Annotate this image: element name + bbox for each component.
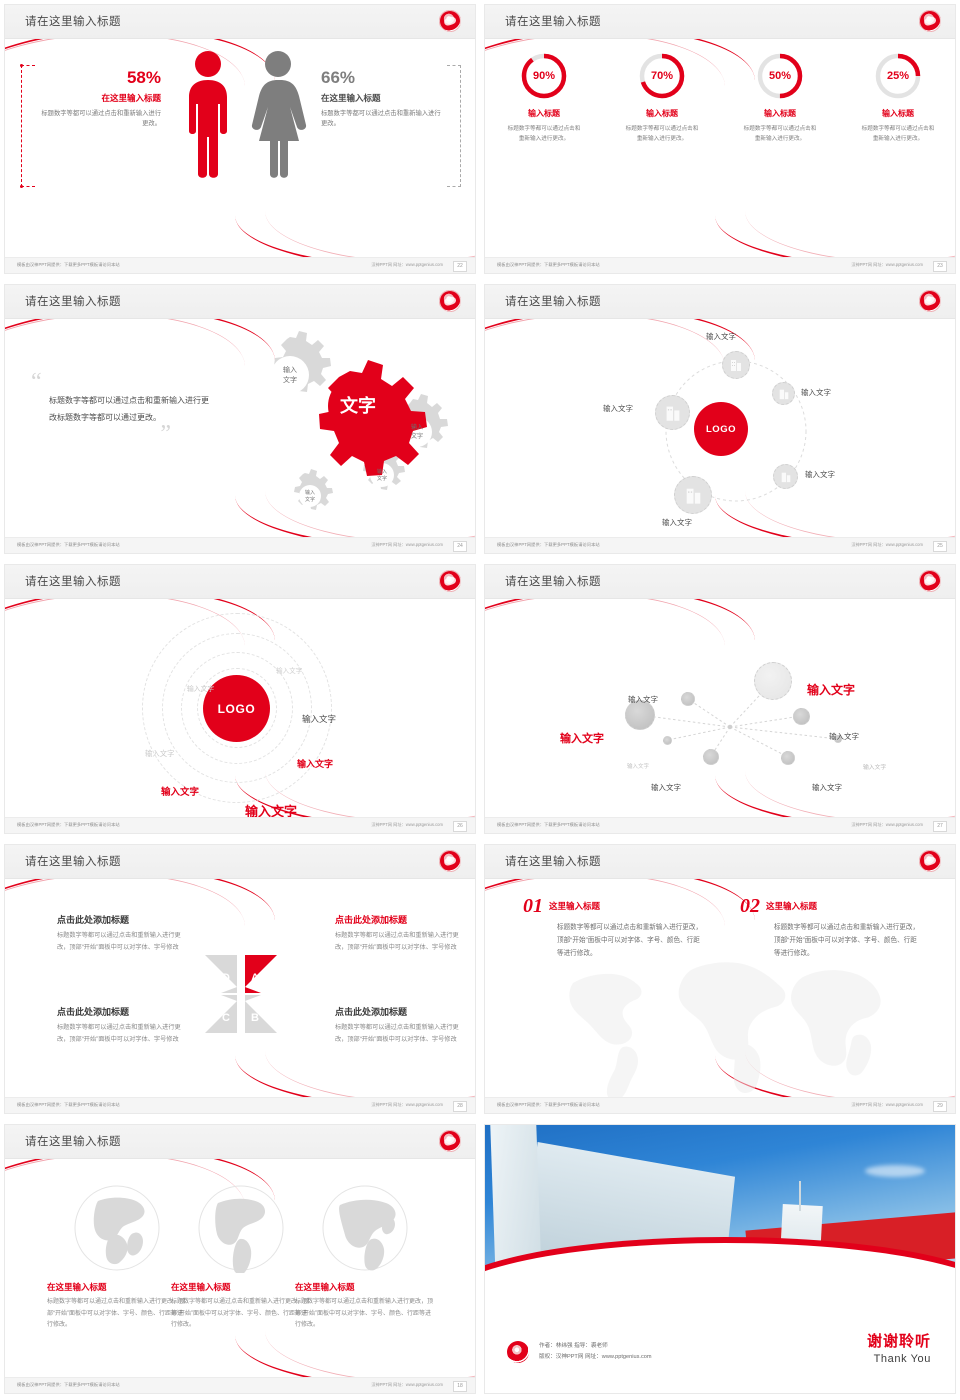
slide-canvas: 请在这里输入标题 xyxy=(484,564,956,834)
slide-4-hub-circle[interactable]: 请在这里输入标题 LOGO xyxy=(480,280,960,560)
globe-column-3: 在这里输入标题 标题数字等都可以通过点击和重新输入进行更改，顶部“开始”面板中可… xyxy=(295,1183,435,1332)
school-seal-icon xyxy=(439,10,461,32)
antenna-mast xyxy=(799,1181,801,1211)
constellation-label-7: 输入文字 xyxy=(651,782,681,793)
page-number: 29 xyxy=(933,1101,947,1112)
globe-desc-3: 标题数字等都可以通过点击和重新输入进行更改，顶部“开始”面板中可以对字体、字号、… xyxy=(295,1297,435,1332)
footer-left-text: 模板由汉神PPT网提供：下载更多PPT模板请访问本站 xyxy=(17,262,120,268)
donut-value: 25% xyxy=(873,51,923,101)
svg-text:输入: 输入 xyxy=(411,423,423,431)
school-seal-icon xyxy=(919,850,941,872)
world-map-watermark xyxy=(545,949,925,1099)
page-title: 请在这里输入标题 xyxy=(25,1133,121,1149)
slide-stage: LOGO 输入文字 xyxy=(485,319,956,539)
ring-label-3: 输入文字 xyxy=(145,748,175,759)
footer-left-text: 模板由汉神PPT网提供：下载更多PPT模板请访问本站 xyxy=(497,822,600,828)
globe-column-2: 在这里输入标题 标题数字等都可以通过点击和重新输入进行更改，顶部“开始”面板中可… xyxy=(171,1183,311,1332)
hub-label-bottom: 输入文字 xyxy=(662,517,692,528)
slide-canvas: 请在这里输入标题 在这里输入标题 标题数字等都可以通过点击和重新输入进行更改，顶… xyxy=(4,1124,476,1394)
item-01-block: 01 这里输入标题 标题数字等都可以通过点击和重新输入进行更改，顶部“开始”面板… xyxy=(523,895,703,961)
globe-title-3: 在这里输入标题 xyxy=(295,1281,435,1293)
hub-node-top[interactable] xyxy=(722,351,750,379)
slide-stage: LOGO 输入文字 输入文字 输入文字 输入文字 输入文字 输入文字 输入文字 xyxy=(5,599,476,819)
quote-open-icon: “ xyxy=(31,375,211,389)
school-seal-icon xyxy=(439,570,461,592)
school-seal-icon xyxy=(919,570,941,592)
footer-right-text: 汉神PPT网 网址：www.pptgenius.com xyxy=(851,1102,923,1108)
quadrant-title: 点击此处添加标题 xyxy=(335,1005,471,1018)
slide-canvas: 请在这里输入标题 “ 标题数字等都可以通过点击和重新输入进行更改标题数字等都可以… xyxy=(4,284,476,554)
item-number-02: 02 xyxy=(740,895,760,918)
svg-text:输入: 输入 xyxy=(305,489,315,496)
hub-diagram: LOGO 输入文字 xyxy=(485,319,956,539)
donut-chart-25: 25% xyxy=(873,51,923,101)
footer-left-text: 模板由汉神PPT网提供：下载更多PPT模板请访问本站 xyxy=(17,1382,120,1388)
thanks-chinese: 谢谢聆听 xyxy=(867,1330,931,1351)
constellation-label-5: 输入文字 xyxy=(627,762,649,770)
quote-block: “ 标题数字等都可以通过点击和重新输入进行更改标题数字等都可以通过更改。 ” xyxy=(31,375,211,441)
node-bottom-left[interactable] xyxy=(703,749,719,765)
page-number: 26 xyxy=(453,821,467,832)
page-number: 22 xyxy=(453,261,467,272)
page-title: 请在这里输入标题 xyxy=(25,293,121,309)
globe-title-2: 在这里输入标题 xyxy=(171,1281,311,1293)
slide-9-globes-three-col[interactable]: 请在这里输入标题 在这里输入标题 标题数字等都可以通过点击和重新输入进行更改，顶… xyxy=(0,1120,480,1400)
donut-value: 70% xyxy=(637,51,687,101)
slide-header: 请在这里输入标题 xyxy=(485,285,956,319)
item-02-block: 02 这里输入标题 标题数字等都可以通过点击和重新输入进行更改，顶部“开始”面板… xyxy=(740,895,920,961)
thanks-english: Thank You xyxy=(867,1353,931,1365)
slide-gallery: 请在这里输入标题 58% 在这里输入标题 标题数字等都可以通过点击和重新输入进行… xyxy=(0,0,960,1400)
female-figure-icon xyxy=(249,49,307,179)
hub-node-left[interactable] xyxy=(655,395,690,430)
svg-text:文字: 文字 xyxy=(305,496,315,503)
school-seal-icon xyxy=(439,1130,461,1152)
building-icon xyxy=(684,486,703,505)
slide-header: 请在这里输入标题 xyxy=(5,845,476,879)
constellation-label-1: 输入文字 xyxy=(628,694,658,705)
donut-description: 标题数字等都可以通过点击和重新输入进行更改。 xyxy=(728,124,832,144)
footer-right-text: 汉神PPT网 网址：www.pptgenius.com xyxy=(851,542,923,548)
building-icon xyxy=(729,358,743,372)
page-title: 请在这里输入标题 xyxy=(505,853,601,869)
donut-item[interactable]: 50% 输入标题 标题数字等都可以通过点击和重新输入进行更改。 xyxy=(728,51,832,144)
footer-right-text: 汉神PPT网 网址：www.pptgenius.com xyxy=(371,822,443,828)
ring-label-6: 输入文字 xyxy=(161,784,199,798)
slide-8-world-map-two-col[interactable]: 请在这里输入标题 01 xyxy=(480,840,960,1120)
hub-label-upper-right: 输入文字 xyxy=(801,387,831,398)
slide-stage: “ 标题数字等都可以通过点击和重新输入进行更改标题数字等都可以通过更改。 ” xyxy=(5,319,476,539)
slide-footer: 模板由汉神PPT网提供：下载更多PPT模板请访问本站 汉神PPT网 网址：www… xyxy=(5,817,476,833)
globe-americas-icon xyxy=(196,1183,286,1273)
hub-label-lower-right: 输入文字 xyxy=(805,469,835,480)
footer-left-text: 模板由汉神PPT网提供：下载更多PPT模板请访问本站 xyxy=(497,262,600,268)
item-title-01: 这里输入标题 xyxy=(549,900,600,912)
slide-header: 请在这里输入标题 xyxy=(485,845,956,879)
slide-stage: 01 这里输入标题 标题数字等都可以通过点击和重新输入进行更改，顶部“开始”面板… xyxy=(485,879,956,1099)
donut-label: 输入标题 xyxy=(492,108,596,119)
footer-left-text: 模板由汉神PPT网提供：下载更多PPT模板请访问本站 xyxy=(17,542,120,548)
quadrant-title: 点击此处添加标题 xyxy=(57,1005,193,1018)
svg-text:文字: 文字 xyxy=(411,432,423,440)
slide-header: 请在这里输入标题 xyxy=(5,565,476,599)
donut-item[interactable]: 70% 输入标题 标题数字等都可以通过点击和重新输入进行更改。 xyxy=(610,51,714,144)
page-number: 23 xyxy=(933,261,947,272)
slide-footer: 模板由汉神PPT网提供：下载更多PPT模板请访问本站 汉神PPT网 网址：www… xyxy=(485,1097,956,1113)
school-seal-icon xyxy=(919,290,941,312)
donut-description: 标题数字等都可以通过点击和重新输入进行更改。 xyxy=(610,124,714,144)
gear-main-icon xyxy=(319,360,427,476)
slide-header: 请在这里输入标题 xyxy=(5,1125,476,1159)
slide-stage: D A C B 点击此处添加标题 标题数字等都可以通过点击和重新输入进行更改，顶… xyxy=(5,879,476,1099)
quadrant-bottom-left: 点击此处添加标题 标题数字等都可以通过点击和重新输入进行更改，顶部“开始”面板中… xyxy=(57,1005,193,1046)
school-seal-icon xyxy=(439,290,461,312)
globe-desc-1: 标题数字等都可以通过点击和重新输入进行更改，顶部“开始”面板中可以对字体、字号、… xyxy=(47,1297,187,1332)
slide-header: 请在这里输入标题 xyxy=(5,285,476,319)
slide-10-thank-you[interactable]: 作者：林纬强 指导：裘老师 版权：汉神PPT网 网址：www.pptgenius… xyxy=(480,1120,960,1400)
thanks-block: 谢谢聆听 Thank You xyxy=(867,1330,931,1365)
hub-label-top: 输入文字 xyxy=(706,331,736,342)
quote-close-icon: ” xyxy=(31,427,171,441)
slide-canvas: 请在这里输入标题 LOGO xyxy=(484,284,956,554)
gear-cluster: 文字 输入 文字 输入 文字 输入 文字 输入 文字 xyxy=(227,327,457,517)
constellation-label-3: 输入文字 xyxy=(560,730,604,746)
slide-canvas: 请在这里输入标题 D A C B 点击此处添加标题 标题数字等都可以通过点击和重… xyxy=(4,844,476,1114)
page-number: 28 xyxy=(453,1101,467,1112)
slide-7-abcd-arrows[interactable]: 请在这里输入标题 D A C B 点击此处添加标题 标题数字等都可以通过点击和重… xyxy=(0,840,480,1120)
ring-label-4: 输入文字 xyxy=(302,713,336,725)
school-seal-icon xyxy=(439,850,461,872)
slide-canvas: 请在这里输入标题 01 xyxy=(484,844,956,1114)
slide-stage: 在这里输入标题 标题数字等都可以通过点击和重新输入进行更改，顶部“开始”面板中可… xyxy=(5,1159,476,1379)
slide-canvas: 请在这里输入标题 58% 在这里输入标题 标题数字等都可以通过点击和重新输入进行… xyxy=(4,4,476,274)
donut-description: 标题数字等都可以通过点击和重新输入进行更改。 xyxy=(492,124,596,144)
svg-text:输入: 输入 xyxy=(377,468,387,475)
quadrant-top-left: 点击此处添加标题 标题数字等都可以通过点击和重新输入进行更改，顶部“开始”面板中… xyxy=(57,913,193,954)
building-icon xyxy=(778,388,790,400)
hub-node-upper-right[interactable] xyxy=(772,382,795,405)
svg-text:文字: 文字 xyxy=(377,475,387,482)
page-title: 请在这里输入标题 xyxy=(505,293,601,309)
donut-item[interactable]: 25% 输入标题 标题数字等都可以通过点击和重新输入进行更改。 xyxy=(846,51,950,144)
constellation-label-2: 输入文字 xyxy=(807,681,855,698)
donut-chart-50: 50% xyxy=(755,51,805,101)
male-percent: 58% xyxy=(41,69,161,88)
slide-footer: 模板由汉神PPT网提供：下载更多PPT模板请访问本站 汉神PPT网 网址：www… xyxy=(5,1377,476,1393)
footer-right-text: 汉神PPT网 网址：www.pptgenius.com xyxy=(371,262,443,268)
slide-footer: 模板由汉神PPT网提供：下载更多PPT模板请访问本站 汉神PPT网 网址：www… xyxy=(5,1097,476,1113)
globe-column-1: 在这里输入标题 标题数字等都可以通过点击和重新输入进行更改，顶部“开始”面板中可… xyxy=(47,1183,187,1332)
svg-text:B: B xyxy=(251,1012,259,1024)
quadrant-description: 标题数字等都可以通过点击和重新输入进行更改，顶部“开始”面板中可以对字体、字号修… xyxy=(57,930,193,954)
quadrant-description: 标题数字等都可以通过点击和重新输入进行更改，顶部“开始”面板中可以对字体、字号修… xyxy=(57,1022,193,1046)
quadrant-top-right: 点击此处添加标题 标题数字等都可以通过点击和重新输入进行更改，顶部“开始”面板中… xyxy=(335,913,471,954)
constellation-label-4: 输入文字 xyxy=(829,731,859,742)
slide-canvas: 请在这里输入标题 LOGO 输入文字 输入文字 输入文字 输入文字 输入文字 输… xyxy=(4,564,476,834)
quadrant-bottom-right: 点击此处添加标题 标题数字等都可以通过点击和重新输入进行更改，顶部“开始”面板中… xyxy=(335,1005,471,1046)
constellation-links xyxy=(485,599,956,819)
node-tiny-left[interactable] xyxy=(663,736,672,745)
node-small-upper[interactable] xyxy=(681,692,695,706)
globe-desc-2: 标题数字等都可以通过点击和重新输入进行更改，顶部“开始”面板中可以对字体、字号、… xyxy=(171,1297,311,1332)
female-subtitle: 在这里输入标题 xyxy=(321,92,441,104)
school-seal-icon xyxy=(507,1341,529,1363)
credit-copyright-line: 版权：汉神PPT网 网址：www.pptgenius.com xyxy=(539,1352,652,1363)
slide-canvas: 作者：林纬强 指导：裘老师 版权：汉神PPT网 网址：www.pptgenius… xyxy=(484,1124,956,1394)
footer-right-text: 汉神PPT网 网址：www.pptgenius.com xyxy=(371,1382,443,1388)
slide-3-gears[interactable]: 请在这里输入标题 “ 标题数字等都可以通过点击和重新输入进行更改标题数字等都可以… xyxy=(0,280,480,560)
svg-text:A: A xyxy=(251,972,259,984)
quadrant-description: 标题数字等都可以通过点击和重新输入进行更改，顶部“开始”面板中可以对字体、字号修… xyxy=(335,930,471,954)
donut-item[interactable]: 90% 输入标题 标题数字等都可以通过点击和重新输入进行更改。 xyxy=(492,51,596,144)
grey-bracket-right xyxy=(447,65,461,187)
node-large-top-right[interactable] xyxy=(754,662,792,700)
donut-value: 50% xyxy=(755,51,805,101)
gear-main-label: 文字 xyxy=(340,395,376,416)
slide-header: 请在这里输入标题 xyxy=(485,5,956,39)
hub-core-logo[interactable]: LOGO xyxy=(694,402,748,456)
slide-footer: 模板由汉神PPT网提供：下载更多PPT模板请访问本站 汉神PPT网 网址：www… xyxy=(5,537,476,553)
page-title: 请在这里输入标题 xyxy=(25,573,121,589)
page-number: 24 xyxy=(453,541,467,552)
credit-block: 作者：林纬强 指导：裘老师 版权：汉神PPT网 网址：www.pptgenius… xyxy=(507,1341,652,1363)
page-title: 请在这里输入标题 xyxy=(505,13,601,29)
building-icon xyxy=(780,471,792,483)
slide-stage: 90% 输入标题 标题数字等都可以通过点击和重新输入进行更改。 70% xyxy=(485,39,956,259)
page-title: 请在这里输入标题 xyxy=(505,573,601,589)
item-desc-02: 标题数字等都可以通过点击和重新输入进行更改，顶部“开始”面板中可以对字体、字号、… xyxy=(774,921,920,961)
female-percent: 66% xyxy=(321,69,441,88)
hub-label-left: 输入文字 xyxy=(603,403,633,414)
red-bracket-left xyxy=(21,65,35,187)
item-title-02: 这里输入标题 xyxy=(766,900,817,912)
constellation-label-8: 输入文字 xyxy=(812,782,842,793)
slide-2-donut-row[interactable]: 请在这里输入标题 90% 输入标题 标题数字等都可以通过点 xyxy=(480,0,960,280)
slide-canvas: 请在这里输入标题 90% 输入标题 标题数字等都可以通过点 xyxy=(484,4,956,274)
donut-label: 输入标题 xyxy=(610,108,714,119)
page-number: 25 xyxy=(933,541,947,552)
footer-right-text: 汉神PPT网 网址：www.pptgenius.com xyxy=(371,542,443,548)
globe-africa-icon xyxy=(320,1183,410,1273)
hub-node-bottom[interactable] xyxy=(674,476,712,514)
school-seal-icon xyxy=(919,10,941,32)
donut-description: 标题数字等都可以通过点击和重新输入进行更改。 xyxy=(846,124,950,144)
ring-label-2: 输入文字 xyxy=(187,683,214,693)
node-mid-right[interactable] xyxy=(793,708,810,725)
male-subtitle: 在这里输入标题 xyxy=(41,92,161,104)
quote-text: 标题数字等都可以通过点击和重新输入进行更改标题数字等都可以通过更改。 xyxy=(49,393,211,427)
globe-asia-icon xyxy=(72,1183,162,1273)
donut-label: 输入标题 xyxy=(846,108,950,119)
ring-label-1: 输入文字 xyxy=(276,665,302,675)
globe-title-1: 在这里输入标题 xyxy=(47,1281,187,1293)
item-desc-01: 标题数字等都可以通过点击和重新输入进行更改，顶部“开始”面板中可以对字体、字号、… xyxy=(557,921,703,961)
footer-right-text: 汉神PPT网 网址：www.pptgenius.com xyxy=(371,1102,443,1108)
svg-text:C: C xyxy=(222,1012,230,1024)
constellation-label-6: 输入文字 xyxy=(863,762,886,771)
slide-footer: 模板由汉神PPT网提供：下载更多PPT模板请访问本站 汉神PPT网 网址：www… xyxy=(485,257,956,273)
donut-chart-90: 90% xyxy=(519,51,569,101)
quadrant-title: 点击此处添加标题 xyxy=(57,913,193,926)
ring-label-5: 输入文字 xyxy=(297,757,333,770)
quadrant-description: 标题数字等都可以通过点击和重新输入进行更改，顶部“开始”面板中可以对字体、字号修… xyxy=(335,1022,471,1046)
item-number-01: 01 xyxy=(523,895,543,918)
svg-text:D: D xyxy=(222,972,230,984)
page-number: 27 xyxy=(933,821,947,832)
slide-footer: 模板由汉神PPT网提供：下载更多PPT模板请访问本站 汉神PPT网 网址：www… xyxy=(485,817,956,833)
hub-node-lower-right[interactable] xyxy=(773,464,798,489)
node-bottom-right[interactable] xyxy=(781,751,795,765)
donut-label: 输入标题 xyxy=(728,108,832,119)
page-title: 请在这里输入标题 xyxy=(25,853,121,869)
cloud-shape xyxy=(865,1165,925,1177)
donut-row: 90% 输入标题 标题数字等都可以通过点击和重新输入进行更改。 70% xyxy=(485,51,956,144)
campus-building-photo xyxy=(485,1125,956,1301)
female-stat-block: 66% 在这里输入标题 标题数字等都可以通过点击和重新输入进行更改。 xyxy=(321,69,441,130)
slide-header: 请在这里输入标题 xyxy=(5,5,476,39)
svg-text:文字: 文字 xyxy=(283,375,297,384)
slide-5-concentric-rings[interactable]: 请在这里输入标题 LOGO 输入文字 输入文字 输入文字 输入文字 输入文字 输… xyxy=(0,560,480,840)
bracket-dot xyxy=(20,64,23,67)
slide-stage: 58% 在这里输入标题 标题数字等都可以通过点击和重新输入进行更改。 66% 在… xyxy=(5,39,476,259)
slide-footer: 模板由汉神PPT网提供：下载更多PPT模板请访问本站 汉神PPT网 网址：www… xyxy=(485,537,956,553)
slide-6-constellation[interactable]: 请在这里输入标题 xyxy=(480,560,960,840)
footer-right-text: 汉神PPT网 网址：www.pptgenius.com xyxy=(851,262,923,268)
male-description: 标题数字等都可以通过点击和重新输入进行更改。 xyxy=(41,109,161,130)
svg-text:输入: 输入 xyxy=(283,365,297,374)
male-figure-icon xyxy=(181,49,235,179)
footer-left-text: 模板由汉神PPT网提供：下载更多PPT模板请访问本站 xyxy=(17,822,120,828)
gear-top-left-icon xyxy=(271,331,331,394)
footer-left-text: 模板由汉神PPT网提供：下载更多PPT模板请访问本站 xyxy=(497,1102,600,1108)
page-number: 18 xyxy=(453,1381,467,1392)
male-stat-block: 58% 在这里输入标题 标题数字等都可以通过点击和重新输入进行更改。 xyxy=(41,69,161,130)
quadrant-title: 点击此处添加标题 xyxy=(335,913,471,926)
page-title: 请在这里输入标题 xyxy=(25,13,121,29)
slide-1-people-percent[interactable]: 请在这里输入标题 58% 在这里输入标题 标题数字等都可以通过点击和重新输入进行… xyxy=(0,0,480,280)
slide-footer: 模板由汉神PPT网提供：下载更多PPT模板请访问本站 汉神PPT网 网址：www… xyxy=(5,257,476,273)
bracket-dot xyxy=(20,185,23,188)
slide-header: 请在这里输入标题 xyxy=(485,565,956,599)
footer-right-text: 汉神PPT网 网址：www.pptgenius.com xyxy=(851,822,923,828)
donut-value: 90% xyxy=(519,51,569,101)
donut-chart-70: 70% xyxy=(637,51,687,101)
female-description: 标题数字等都可以通过点击和重新输入进行更改。 xyxy=(321,109,441,130)
footer-left-text: 模板由汉神PPT网提供：下载更多PPT模板请访问本站 xyxy=(17,1102,120,1108)
building-icon xyxy=(664,404,682,422)
credit-author-line: 作者：林纬强 指导：裘老师 xyxy=(539,1341,652,1352)
slide-stage: 输入文字 输入文字 输入文字 输入文字 输入文字 输入文字 输入文字 输入文字 xyxy=(485,599,956,819)
footer-left-text: 模板由汉神PPT网提供：下载更多PPT模板请访问本站 xyxy=(497,542,600,548)
